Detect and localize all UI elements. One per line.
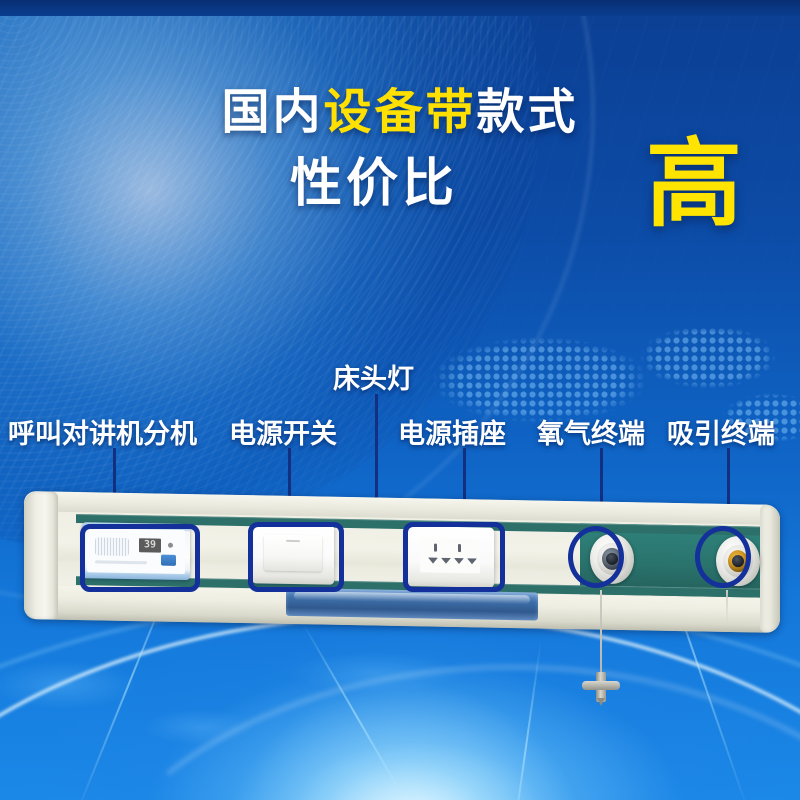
panel-end-cap-left [24, 491, 58, 620]
oxygen-hose-cord [600, 590, 602, 678]
callout-label-suction-terminal: 吸引终端 [667, 412, 775, 451]
panel-end-cap-right [760, 505, 780, 633]
highlight-circle-oxygen-terminal [568, 526, 624, 588]
callout-label-power-switch: 电源开关 [229, 412, 337, 451]
highlight-box-intercom [80, 524, 200, 592]
suction-hose-cord [726, 590, 728, 626]
connector-wing [582, 681, 620, 690]
highlight-box-power-switch [248, 522, 344, 592]
callout-label-oxygen-terminal: 氧气终端 [537, 412, 645, 451]
callout-label-nurse-call-intercom: 呼叫对讲机分机 [8, 412, 197, 451]
callout-label-bed-lamp: 床头灯 [333, 357, 414, 396]
highlight-circle-suction-terminal [695, 526, 751, 588]
callout-layer: 呼叫对讲机分机 电源开关 床头灯 电源插座 氧气终端 吸引终端 [0, 0, 800, 800]
callout-label-power-socket: 电源插座 [398, 412, 506, 451]
promo-banner: 国内设备带款式 性价比 高 呼叫对讲机分机 电源开关 床头灯 电源插座 氧气终端… [0, 0, 800, 800]
highlight-box-power-socket [403, 522, 505, 592]
hose-connector-plug [582, 672, 620, 702]
